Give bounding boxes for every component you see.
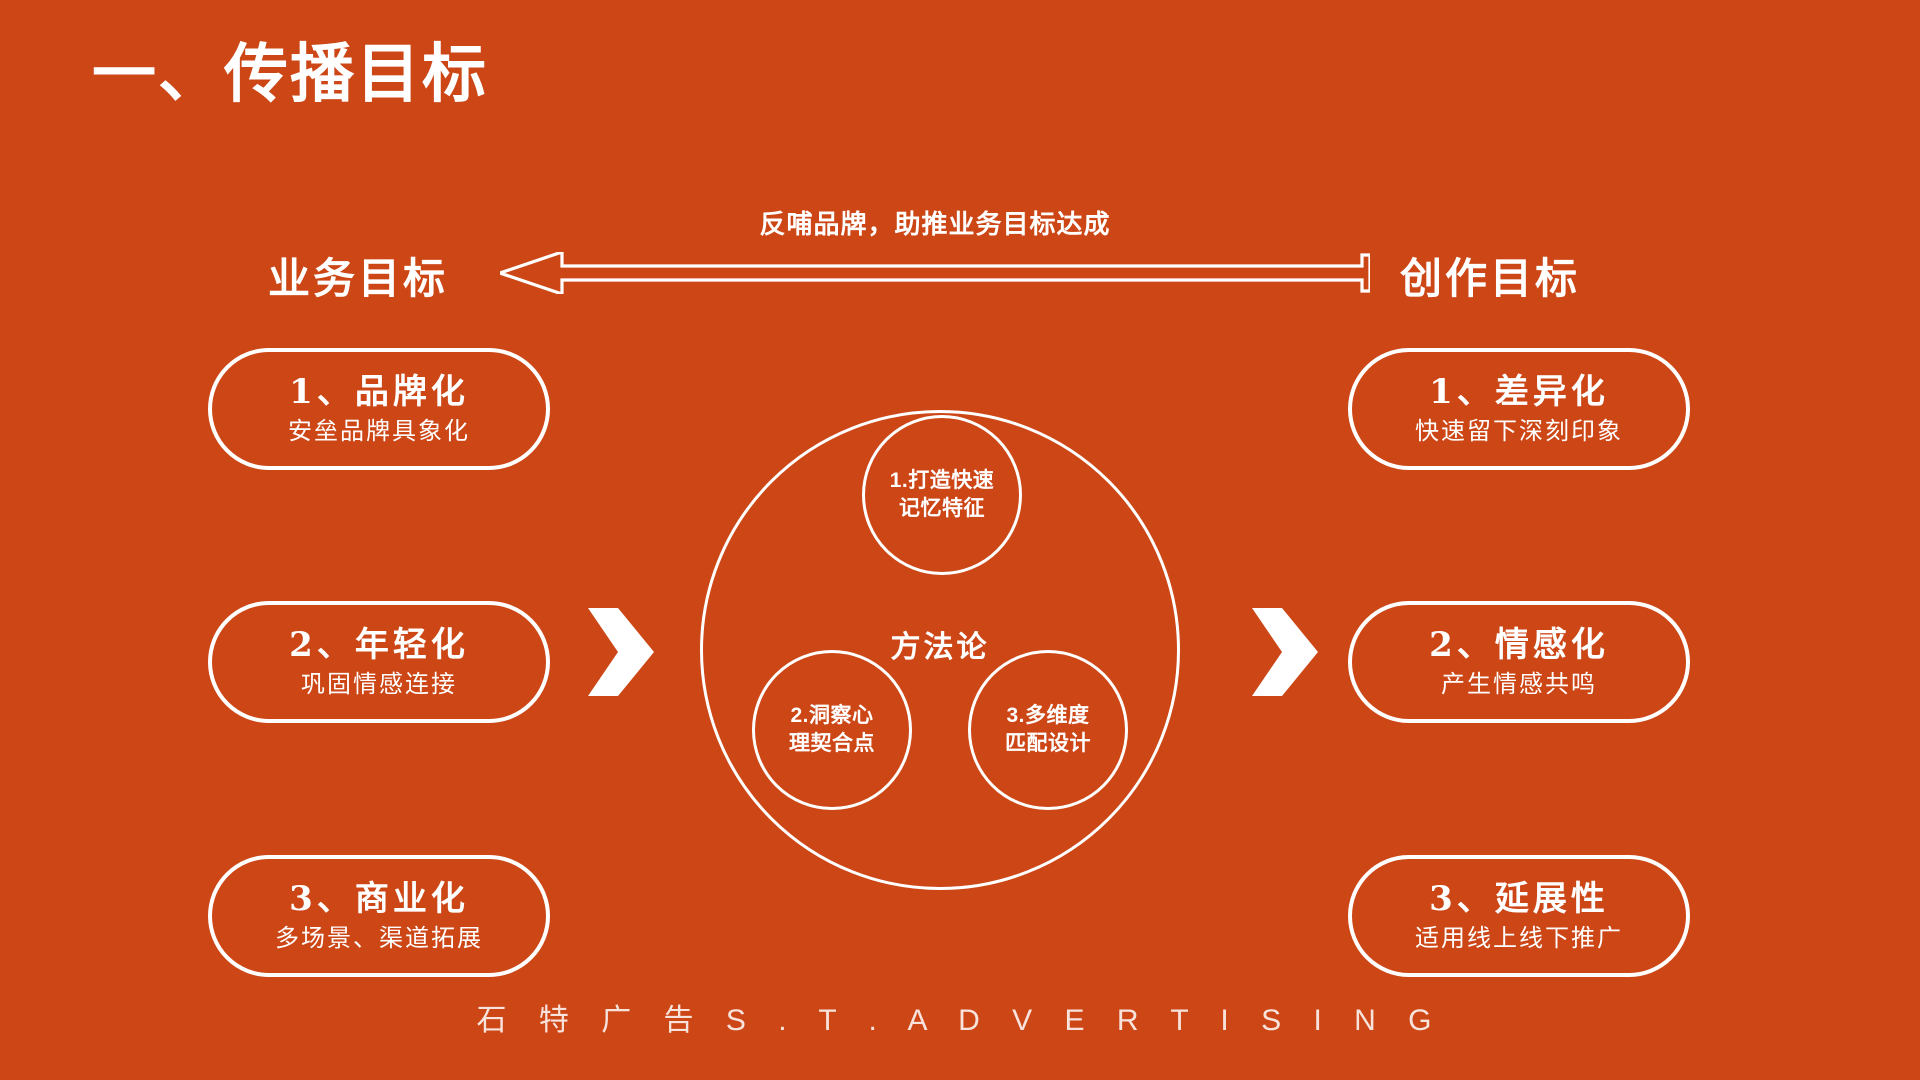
- left-goal-3-subtitle: 多场景、渠道拓展: [275, 925, 483, 953]
- right-goal-pill-3[interactable]: 3、延展性 适用线上线下推广: [1348, 855, 1690, 977]
- right-goal-3-title: 3、延展性: [1429, 880, 1609, 919]
- methodology-node-3-line2: 匹配设计: [1005, 730, 1091, 758]
- methodology-diagram: 方法论 1.打造快速 记忆特征 2.洞察心 理契合点 3.多维度 匹配设计: [700, 410, 1180, 890]
- left-goal-3-title: 3、商业化: [289, 880, 469, 919]
- methodology-node-3-line1: 3.多维度: [1005, 702, 1091, 730]
- feedback-arrow-group: 反哺品牌，助推业务目标达成: [500, 252, 1370, 294]
- left-goal-2-title: 2、年轻化: [289, 626, 469, 665]
- methodology-node-2[interactable]: 2.洞察心 理契合点: [752, 650, 912, 810]
- right-goal-2-subtitle: 产生情感共鸣: [1441, 671, 1597, 699]
- methodology-node-3[interactable]: 3.多维度 匹配设计: [968, 650, 1128, 810]
- left-arrow-icon: [500, 252, 1370, 294]
- slide-canvas: 一、传播目标 业务目标 创作目标 反哺品牌，助推业务目标达成 1、品牌化 安垒品…: [0, 0, 1920, 1080]
- right-goal-2-title: 2、情感化: [1429, 626, 1609, 665]
- left-goal-1-subtitle: 安垒品牌具象化: [288, 418, 470, 446]
- chevron-right-icon-right: [1252, 608, 1318, 696]
- right-goal-1-subtitle: 快速留下深刻印象: [1415, 418, 1623, 446]
- page-title: 一、传播目标: [92, 38, 488, 112]
- methodology-node-1-line2: 记忆特征: [890, 495, 995, 523]
- right-goal-pill-1[interactable]: 1、差异化 快速留下深刻印象: [1348, 348, 1690, 470]
- right-goal-3-subtitle: 适用线上线下推广: [1415, 925, 1623, 953]
- right-goal-pill-2[interactable]: 2、情感化 产生情感共鸣: [1348, 601, 1690, 723]
- left-column-heading: 业务目标: [268, 245, 448, 306]
- methodology-node-2-line2: 理契合点: [789, 730, 875, 758]
- methodology-node-1[interactable]: 1.打造快速 记忆特征: [862, 415, 1022, 575]
- feedback-arrow-label: 反哺品牌，助推业务目标达成: [500, 204, 1370, 241]
- methodology-node-1-line1: 1.打造快速: [890, 467, 995, 495]
- chevron-right-icon-left: [588, 608, 654, 696]
- footer-brand: 石 特 广 告 S . T . A D V E R T I S I N G: [0, 995, 1920, 1039]
- left-goal-pill-2[interactable]: 2、年轻化 巩固情感连接: [208, 601, 550, 723]
- methodology-center-label: 方法论: [700, 622, 1180, 666]
- left-goal-2-subtitle: 巩固情感连接: [301, 671, 457, 699]
- left-goal-pill-1[interactable]: 1、品牌化 安垒品牌具象化: [208, 348, 550, 470]
- right-column-heading: 创作目标: [1400, 245, 1580, 306]
- right-goal-1-title: 1、差异化: [1429, 373, 1609, 412]
- left-goal-pill-3[interactable]: 3、商业化 多场景、渠道拓展: [208, 855, 550, 977]
- left-goal-1-title: 1、品牌化: [289, 373, 469, 412]
- methodology-node-2-line1: 2.洞察心: [789, 702, 875, 730]
